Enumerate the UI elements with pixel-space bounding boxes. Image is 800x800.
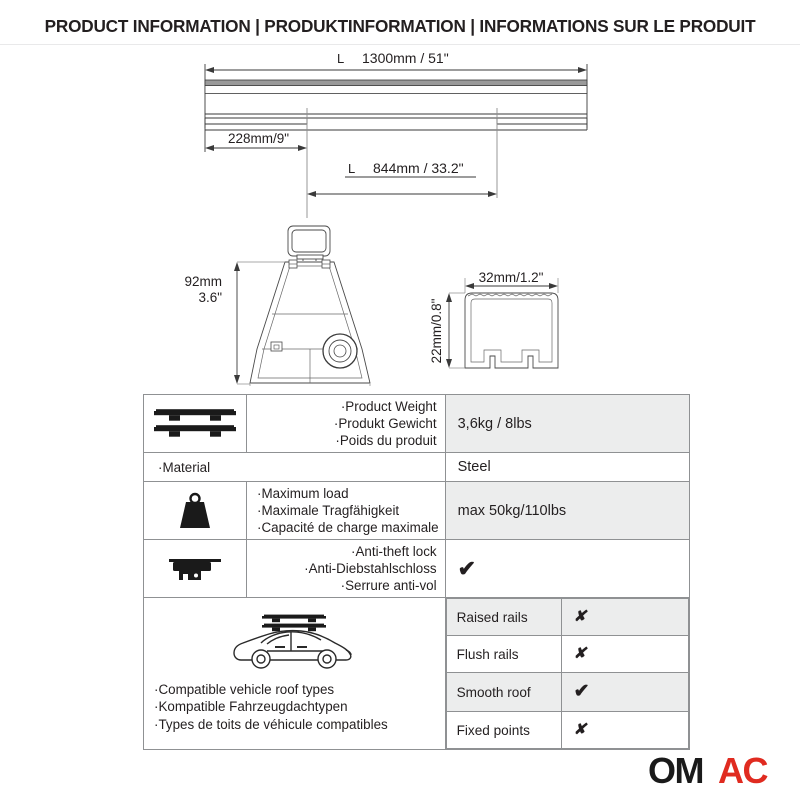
- label-line: ·Poids du produit: [249, 432, 437, 449]
- dim-foot-height-line1: 92mm: [184, 274, 222, 289]
- car-with-rack-icon: [154, 610, 435, 677]
- title-divider: [0, 44, 800, 45]
- anti-theft-labels: ·Anti-theft lock ·Anti-Diebstahlschloss …: [247, 540, 446, 598]
- table-row: ·Maximum load ·Maximale Tragfähigkeit ·C…: [144, 482, 690, 540]
- table-row: ·Anti-theft lock ·Anti-Diebstahlschloss …: [144, 540, 690, 598]
- roof-type-name: Smooth roof: [446, 673, 561, 712]
- cross-icon: ✘: [574, 721, 587, 738]
- lock-icon: [146, 553, 244, 585]
- table-row: ·Product Weight ·Produkt Gewicht ·Poids …: [144, 395, 690, 453]
- label-line: ·Kompatible Fahrzeugdachtypen: [154, 698, 435, 715]
- roof-type-name: Raised rails: [446, 599, 561, 636]
- product-weight-labels: ·Product Weight ·Produkt Gewicht ·Poids …: [247, 395, 446, 453]
- roof-type-name: Fixed points: [446, 712, 561, 749]
- label-line: ·Maximum load: [257, 485, 439, 502]
- lock-icon-cell: [144, 540, 247, 598]
- crossbars-icon: [146, 406, 244, 442]
- product-weight-value: 3,6kg / 8lbs: [445, 395, 689, 453]
- cross-icon: ✘: [574, 608, 587, 625]
- label-line: ·Material: [158, 459, 439, 476]
- dim-section-width-value: 32mm/1.2": [479, 270, 544, 285]
- maximum-load-labels: ·Maximum load ·Maximale Tragfähigkeit ·C…: [247, 482, 446, 540]
- dim-span-symbol: L: [348, 161, 355, 176]
- label-line: ·Serrure anti-vol: [249, 577, 437, 594]
- page-title: PRODUCT INFORMATION | PRODUKTINFORMATION…: [45, 16, 756, 37]
- dim-length-value: 1300mm / 51": [362, 50, 449, 66]
- label-line: ·Product Weight: [249, 398, 437, 415]
- roof-type-name: Flush rails: [446, 636, 561, 673]
- logo-text-dark: OM: [648, 752, 703, 791]
- specification-table: ·Product Weight ·Produkt Gewicht ·Poids …: [143, 394, 690, 750]
- label-line: ·Anti-theft lock: [249, 543, 437, 560]
- roof-types-table-cell: Raised rails ✘ Flush rails ✘: [445, 598, 689, 750]
- label-line: ·Anti-Diebstahlschloss: [249, 560, 437, 577]
- page-header: PRODUCT INFORMATION | PRODUKTINFORMATION…: [0, 8, 800, 44]
- technical-drawing: L 1300mm / 51" 228mm/9" L 844mm / 33.2" …: [0, 46, 800, 386]
- label-line: ·Types de toits de véhicule compatibles: [154, 716, 435, 733]
- cross-icon: ✘: [574, 645, 587, 662]
- anti-theft-value: ✔: [445, 540, 689, 598]
- omac-logo: OM AC: [648, 752, 788, 792]
- table-row: ·Material Steel: [144, 453, 690, 482]
- check-icon: ✔: [574, 681, 590, 702]
- material-value: Steel: [445, 453, 689, 482]
- roof-type-mark-cell: ✘: [561, 636, 688, 673]
- roof-type-row: Smooth roof ✔: [446, 673, 688, 712]
- product-information-page: PRODUCT INFORMATION | PRODUKTINFORMATION…: [0, 0, 800, 800]
- weight-icon-cell: [144, 482, 247, 540]
- roof-types-labels-cell: ·Compatible vehicle roof types ·Kompatib…: [144, 598, 446, 750]
- maximum-load-value: max 50kg/110lbs: [445, 482, 689, 540]
- dim-length-symbol: L: [337, 51, 344, 66]
- roof-types-table: Raised rails ✘ Flush rails ✘: [446, 598, 689, 749]
- material-labels: ·Material: [144, 453, 446, 482]
- dim-section-height-value: 22mm/0.8": [429, 298, 444, 363]
- roof-type-mark-cell: ✘: [561, 599, 688, 636]
- label-line: ·Maximale Tragfähigkeit: [257, 502, 439, 519]
- roof-type-mark-cell: ✔: [561, 673, 688, 712]
- weight-icon: [146, 490, 244, 532]
- label-line: ·Produkt Gewicht: [249, 415, 437, 432]
- table-row-roof-types: ·Compatible vehicle roof types ·Kompatib…: [144, 598, 690, 750]
- dim-foot-height-line2: 3.6": [198, 290, 222, 305]
- logo-text-red: AC: [718, 752, 768, 791]
- roof-type-row: Raised rails ✘: [446, 599, 688, 636]
- roof-type-mark-cell: ✘: [561, 712, 688, 749]
- dim-span-value: 844mm / 33.2": [373, 160, 464, 176]
- check-icon: ✔: [458, 556, 476, 581]
- dim-offset-value: 228mm/9": [228, 131, 289, 146]
- label-line: ·Compatible vehicle roof types: [154, 681, 435, 698]
- roof-type-row: Flush rails ✘: [446, 636, 688, 673]
- crossbars-icon-cell: [144, 395, 247, 453]
- label-line: ·Capacité de charge maximale: [257, 519, 439, 536]
- roof-type-row: Fixed points ✘: [446, 712, 688, 749]
